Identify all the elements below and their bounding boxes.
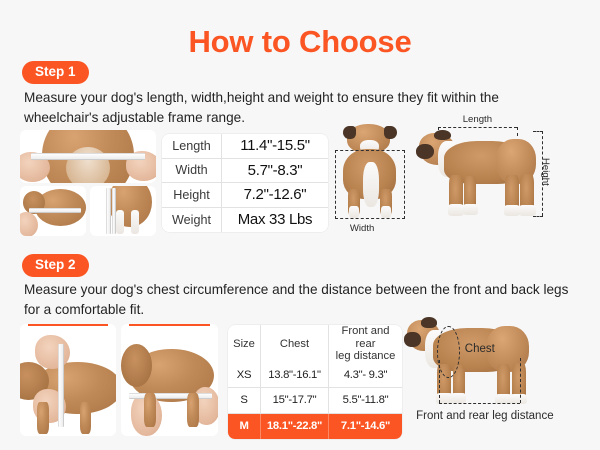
table-row: Height 7.2"-12.6" — [162, 183, 328, 208]
table-row-highlighted[interactable]: M 18.1"-22.8" 7.1"-14.6" — [228, 414, 402, 440]
size-chart-table: Size Chest Front and rear leg distance X… — [228, 325, 402, 439]
dimension-label: Weight — [162, 208, 222, 233]
chest-label: Chest — [465, 343, 495, 355]
dog-chest-measure-illustration: Chest Front and rear leg distance — [404, 318, 556, 422]
step-2-description: Measure your dog's chest circumference a… — [24, 280, 569, 319]
photo-measure-leg-distance — [121, 324, 218, 436]
dimension-value: Max 33 Lbs — [222, 208, 328, 233]
table-row: Weight Max 33 Lbs — [162, 208, 328, 233]
dimension-table: Length 11.4"-15.5" Width 5.7"-8.3" Heigh… — [162, 134, 328, 232]
column-header-chest: Chest — [261, 325, 329, 363]
width-label: Width — [350, 223, 375, 234]
page-title: How to Choose — [0, 24, 600, 60]
dimension-label: Width — [162, 159, 222, 184]
step-1-badge: Step 1 — [22, 61, 89, 84]
photo-measure-height-rear — [90, 186, 156, 236]
length-dimension-line — [438, 127, 517, 128]
dimension-value: 11.4"-15.5" — [222, 134, 328, 159]
table-row[interactable]: XS 13.8"-16.1" 4.3"- 9.3" — [228, 363, 402, 389]
column-header-line-2: leg distance — [336, 350, 396, 362]
dimension-label: Height — [162, 183, 222, 208]
cell-size: M — [228, 414, 261, 440]
cell-leg-distance: 4.3"- 9.3" — [329, 363, 402, 389]
dimension-label: Length — [162, 134, 222, 159]
cell-chest: 18.1"-22.8" — [261, 414, 329, 440]
cell-chest: 13.8"-16.1" — [261, 363, 329, 389]
table-row[interactable]: S 15"-17.7" 5.5"-11.8" — [228, 388, 402, 414]
column-header-size: Size — [228, 325, 261, 363]
photo-measure-chest — [20, 324, 116, 436]
cell-leg-distance: 7.1"-14.6" — [329, 414, 402, 440]
cell-size: S — [228, 388, 261, 414]
step-1-photo-collage — [20, 130, 156, 236]
dog-side-view-illustration: Length Height — [408, 116, 560, 222]
leg-distance-label: Front and rear leg distance — [416, 410, 553, 422]
height-label: Height — [540, 158, 551, 186]
width-dimension-box — [335, 150, 404, 219]
column-header-leg-distance: Front and rear leg distance — [329, 325, 402, 363]
dimension-value: 7.2"-12.6" — [222, 183, 328, 208]
table-header-row: Size Chest Front and rear leg distance — [228, 325, 402, 363]
table-row: Width 5.7"-8.3" — [162, 159, 328, 184]
photo-measure-length-side — [20, 186, 86, 236]
cell-size: XS — [228, 363, 261, 389]
step-2-photo-collage — [20, 324, 218, 436]
step-2-badge: Step 2 — [22, 254, 89, 277]
dimension-value: 5.7"-8.3" — [222, 159, 328, 184]
column-header-line-1: Front and rear — [342, 325, 390, 350]
table-row: Length 11.4"-15.5" — [162, 134, 328, 159]
leg-distance-dimension-line — [439, 403, 520, 404]
dog-front-view-illustration: Width — [334, 124, 406, 220]
photo-measure-width-rear — [20, 130, 156, 183]
cell-chest: 15"-17.7" — [261, 388, 329, 414]
cell-leg-distance: 5.5"-11.8" — [329, 388, 402, 414]
length-label: Length — [463, 114, 492, 125]
